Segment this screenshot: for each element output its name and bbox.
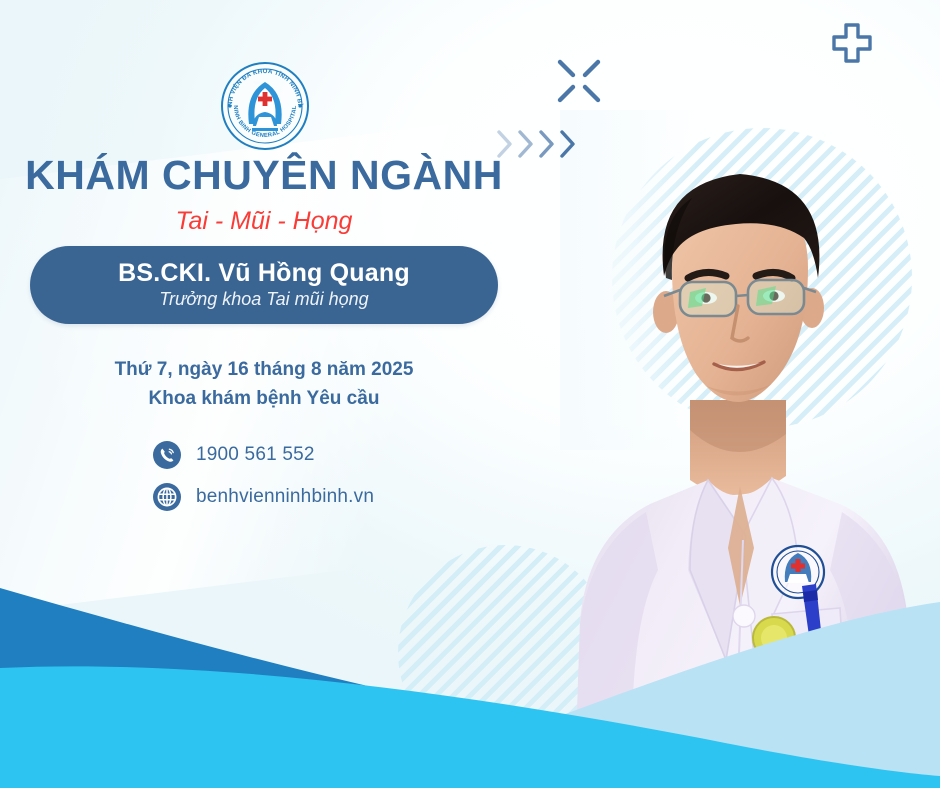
contact-row-website[interactable]: benhvienninhbinh.vn (152, 480, 528, 514)
schedule-place: Khoa khám bệnh Yêu cầu (0, 384, 528, 413)
doctor-name-card: BS.CKI. Vũ Hồng Quang Trưởng khoa Tai mũ… (30, 246, 498, 324)
bottom-waves (0, 558, 940, 788)
globe-icon (152, 482, 182, 512)
schedule-block: Thứ 7, ngày 16 tháng 8 năm 2025 Khoa khá… (0, 355, 528, 414)
doctor-name: BS.CKI. Vũ Hồng Quang (118, 259, 410, 287)
schedule-date: Thứ 7, ngày 16 tháng 8 năm 2025 (0, 355, 528, 384)
contact-row-phone[interactable]: 1900 561 552 (152, 438, 528, 472)
phone-icon (152, 440, 182, 470)
doctor-role: Trưởng khoa Tai mũi họng (159, 288, 368, 311)
hospital-logo: BỆNH VIỆN ĐA KHOA TỈNH NINH BÌNH NINH BI… (219, 60, 311, 152)
phone-number: 1900 561 552 (196, 444, 315, 466)
poster-canvas: BỆNH VIỆN ĐA KHOA TỈNH NINH BÌNH NINH BI… (0, 0, 940, 788)
website-url: benhvienninhbinh.vn (196, 486, 374, 508)
sparkle-icon (556, 58, 602, 104)
page-title: KHÁM CHUYÊN NGÀNH (0, 152, 528, 199)
medical-cross-icon (831, 22, 873, 64)
contact-list: 1900 561 552 benhvienninhbinh.vn (152, 438, 528, 522)
specialty-subtitle: Tai - Mũi - Họng (0, 207, 528, 236)
